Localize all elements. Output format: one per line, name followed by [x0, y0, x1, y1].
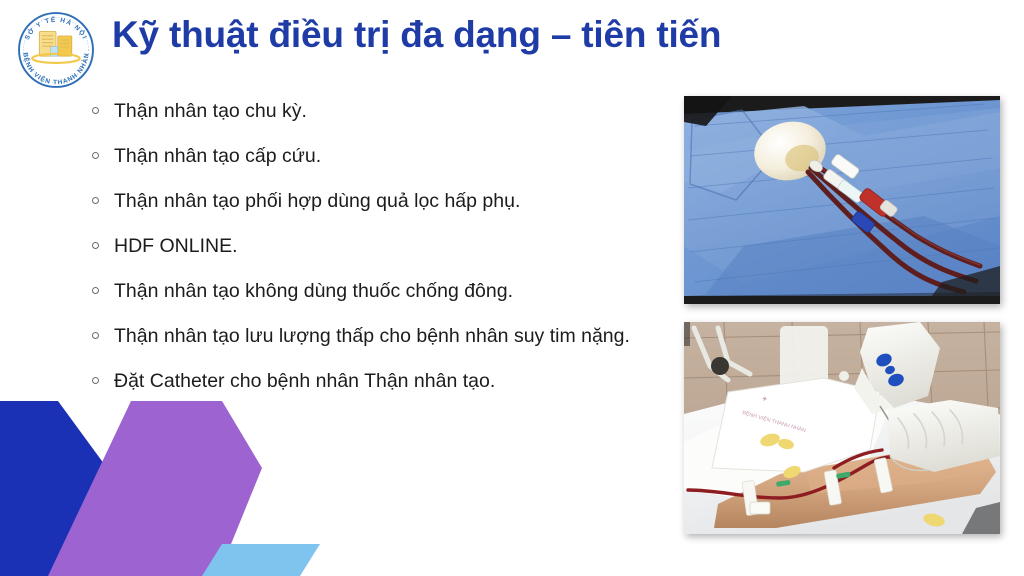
- light-blue-parallelogram: [202, 544, 320, 576]
- list-item-label: Thận nhân tạo lưu lượng thấp cho bệnh nh…: [114, 323, 712, 349]
- dark-blue-hexagon: [0, 401, 118, 576]
- technique-list: Thận nhân tạo chu kỳ. Thận nhân tạo cấp …: [92, 98, 712, 413]
- bullet-circle-icon: [92, 98, 114, 116]
- list-item: Thận nhân tạo lưu lượng thấp cho bệnh nh…: [92, 323, 712, 368]
- list-item-label: Thận nhân tạo chu kỳ.: [114, 98, 712, 124]
- list-item-label: Thận nhân tạo phối hợp dùng quả lọc hấp …: [114, 188, 712, 214]
- bullet-circle-icon: [92, 368, 114, 386]
- list-item: Thận nhân tạo không dùng thuốc chống đôn…: [92, 278, 712, 323]
- page-title: Kỹ thuật điều trị đa dạng – tiên tiến: [112, 12, 872, 58]
- list-item-label: Đặt Catheter cho bệnh nhân Thận nhân tạo…: [114, 368, 712, 394]
- list-item: Đặt Catheter cho bệnh nhân Thận nhân tạo…: [92, 368, 712, 413]
- list-item: Thận nhân tạo phối hợp dùng quả lọc hấp …: [92, 188, 712, 233]
- bullet-circle-icon: [92, 278, 114, 296]
- list-item-label: Thận nhân tạo cấp cứu.: [114, 143, 712, 169]
- list-item: Thận nhân tạo cấp cứu.: [92, 143, 712, 188]
- logo-icon: THANH NHAN HOSPITAL SỞ Y TẾ HÀ NỘI BỆNH …: [12, 6, 100, 94]
- list-item: Thận nhân tạo chu kỳ.: [92, 98, 712, 143]
- hospital-logo: THANH NHAN HOSPITAL SỞ Y TẾ HÀ NỘI BỆNH …: [12, 6, 100, 94]
- bullet-circle-icon: [92, 188, 114, 206]
- catheter-photo-illustration: [684, 96, 1000, 304]
- bullet-circle-icon: [92, 323, 114, 341]
- purple-hexagon: [48, 401, 262, 576]
- slide-canvas: THANH NHAN HOSPITAL SỞ Y TẾ HÀ NỘI BỆNH …: [0, 0, 1024, 576]
- photo-catheter-on-blue-surgical-drape: [684, 96, 1000, 304]
- list-item-label: HDF ONLINE.: [114, 233, 712, 259]
- logo-inner-text: THANH NHAN HOSPITAL: [12, 6, 63, 7]
- list-item-label: Thận nhân tạo không dùng thuốc chống đôn…: [114, 278, 712, 304]
- photo-hemodialysis-needle-placement-on-arm: BỆNH VIỆN THANH NHÀN ✚: [684, 322, 1000, 534]
- list-item: HDF ONLINE.: [92, 233, 712, 278]
- bullet-circle-icon: [92, 143, 114, 161]
- dialysis-photo-illustration: BỆNH VIỆN THANH NHÀN ✚: [684, 322, 1000, 534]
- bullet-circle-icon: [92, 233, 114, 251]
